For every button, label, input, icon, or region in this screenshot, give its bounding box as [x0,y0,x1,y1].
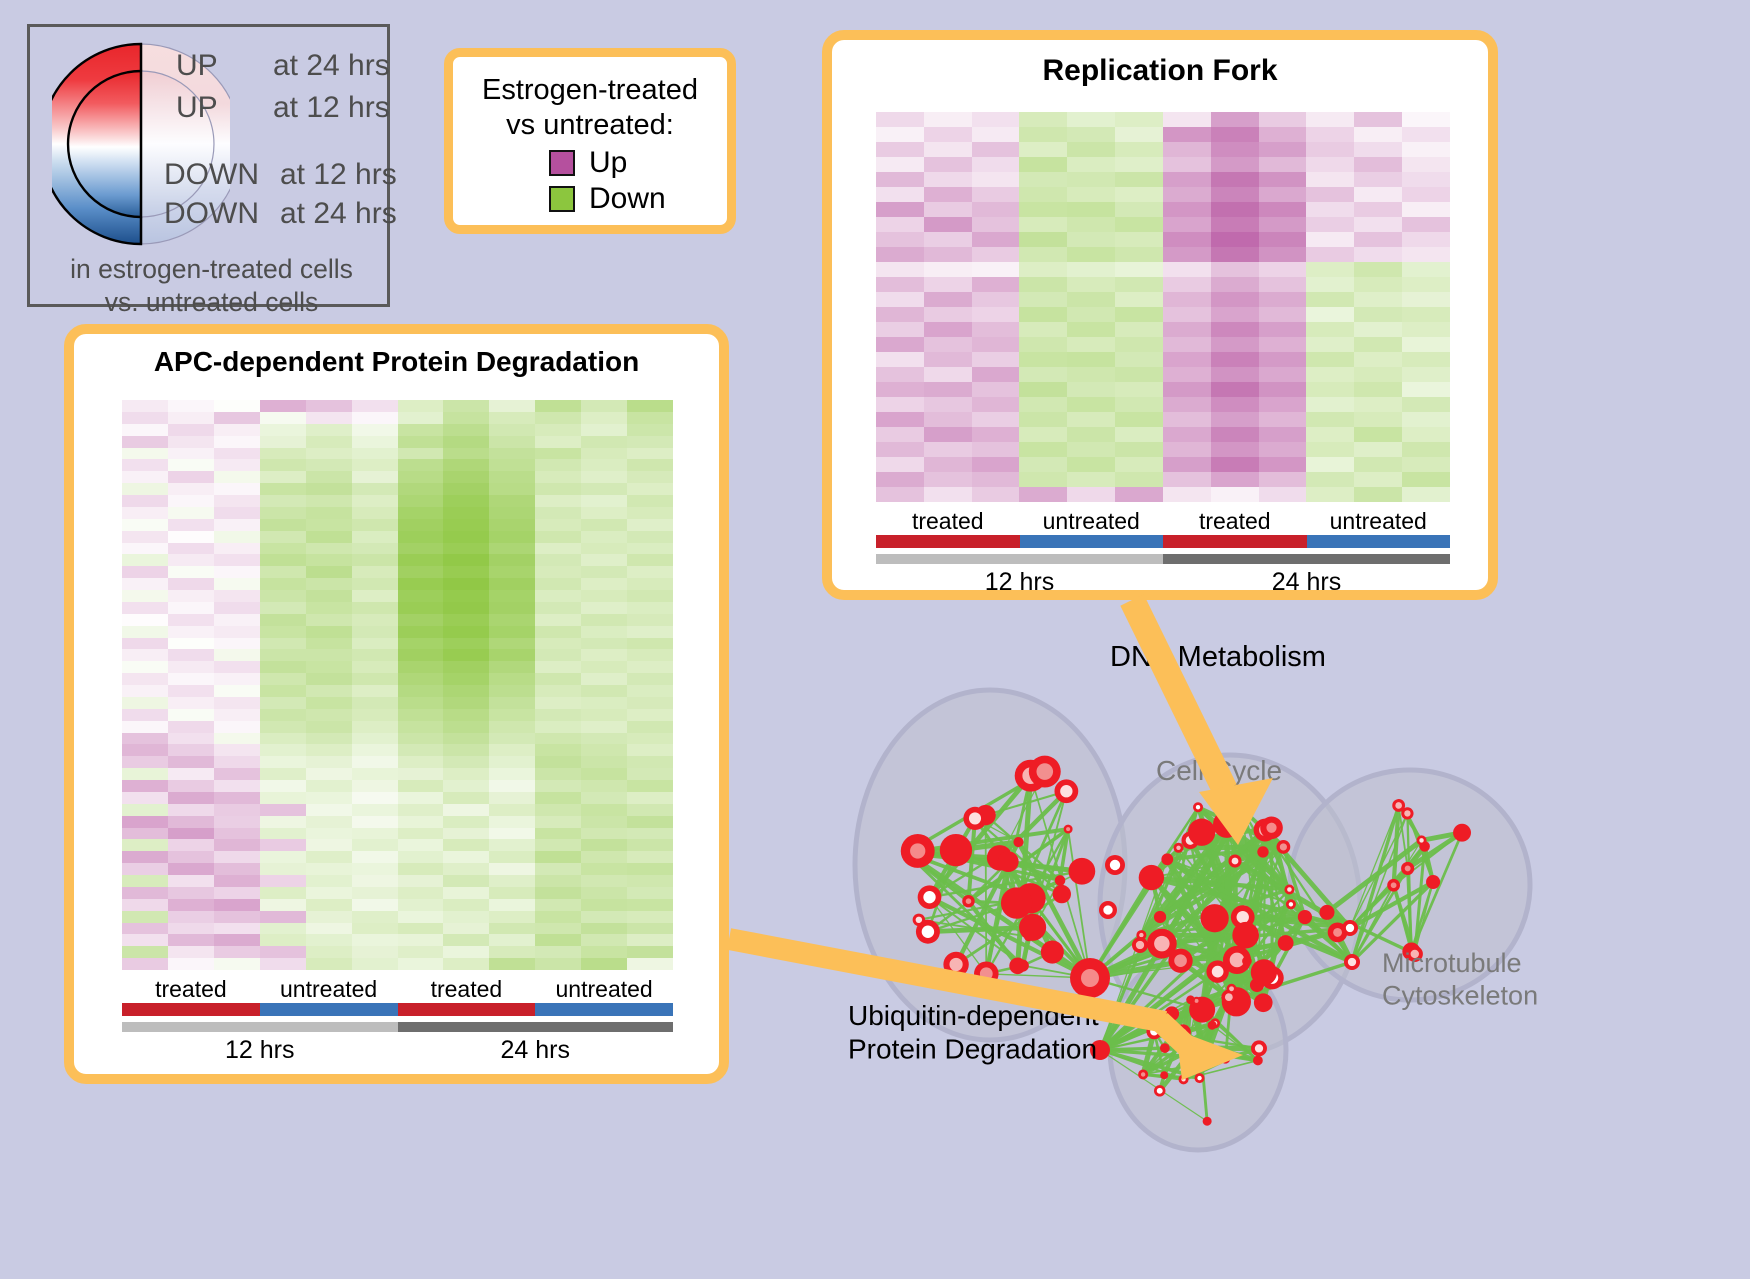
heatmap-cell [1163,457,1211,472]
heatmap-cell [306,875,352,887]
heatmap-cell [352,566,398,578]
heatmap-cell [443,685,489,697]
network-node[interactable] [1257,846,1268,857]
heatmap-cell [260,911,306,923]
heatmap-cell [260,697,306,709]
heatmap-cell [535,851,581,863]
heatmap-cell [306,946,352,958]
heatmap-cell [122,863,168,875]
heatmap-cell [1259,427,1307,442]
heatmap-cell [443,934,489,946]
heatmap-cell [1354,472,1402,487]
heatmap-cell [260,756,306,768]
heatmap-cell [168,816,214,828]
heatmap-cell [581,649,627,661]
heatmap-cell [972,427,1020,442]
heatmap-cell [352,744,398,756]
heatmap-cell [1019,322,1067,337]
heatmap-cell [581,685,627,697]
heatmap-cell [1211,262,1259,277]
network-node[interactable] [1160,1043,1170,1053]
heatmap-cell [1211,202,1259,217]
heatmap-cell [876,472,924,487]
heatmap-cell [306,436,352,448]
heatmap-cell [306,899,352,911]
heatmap-cell [260,531,306,543]
network-node[interactable] [1053,885,1071,903]
heatmap-cell [306,578,352,590]
apc-timebar-12 [122,1022,398,1032]
heatmap-cell [535,816,581,828]
heatmap-cell [535,673,581,685]
heatmap-cell [260,875,306,887]
network-node[interactable] [1278,935,1294,951]
heatmap-cell [535,946,581,958]
heatmap-cell [443,958,489,970]
heatmap-cell [398,649,444,661]
heatmap-cell [1354,112,1402,127]
heatmap-cell [443,483,489,495]
heatmap-cell [1019,487,1067,502]
heatmap-cell [122,816,168,828]
heatmap-cell [1211,337,1259,352]
heatmap-cell [876,127,924,142]
heatmap-cell [924,172,972,187]
network-node[interactable] [1200,1048,1208,1056]
heatmap-cell [972,217,1020,232]
heatmap-cell [581,519,627,531]
heatmap-cell [168,543,214,555]
rep-sample-color-bar [876,535,1450,548]
network-node[interactable] [1139,865,1164,890]
heatmap-cell [168,780,214,792]
heatmap-cell [1211,412,1259,427]
heatmap-cell [352,816,398,828]
legend-time-up-24: at 24 hrs [273,49,390,83]
heatmap-cell [627,543,673,555]
heatmap-cell [260,424,306,436]
heatmap-cell [260,839,306,851]
heatmap-cell [535,934,581,946]
heatmap-cell [306,507,352,519]
heatmap-cell [214,673,260,685]
heatmap-cell [1163,187,1211,202]
heatmap-cell [1019,157,1067,172]
heatmap-cell [924,472,972,487]
updown-legend-title-line2: vs untreated: [453,108,727,143]
heatmap-cell [260,649,306,661]
heatmap-cell [443,744,489,756]
heatmap-cell [924,352,972,367]
heatmap-cell [1019,382,1067,397]
heatmap-cell [352,448,398,460]
heatmap-cell [1259,217,1307,232]
heatmap-cell [443,507,489,519]
heatmap-cell [443,638,489,650]
heatmap-cell [214,934,260,946]
heatmap-cell [214,412,260,424]
heatmap-cell [1019,202,1067,217]
heatmap-cell [168,424,214,436]
network-node[interactable] [1165,1006,1179,1020]
heatmap-cell [1306,172,1354,187]
heatmap-cell [443,566,489,578]
heatmap-cell [443,792,489,804]
heatmap-cell [214,697,260,709]
heatmap-cell [1354,442,1402,457]
heatmap-cell [972,262,1020,277]
heatmap-cell [1115,457,1163,472]
heatmap-cell [1402,172,1450,187]
legend-key-down-24: DOWN [164,197,259,231]
heatmap-cell [1019,217,1067,232]
heatmap-cell [168,721,214,733]
network-node[interactable] [1254,993,1273,1012]
network-node[interactable] [1253,1056,1263,1066]
heatmap-cell [352,934,398,946]
heatmap-cell [1163,322,1211,337]
heatmap-cell [260,816,306,828]
heatmap-cell [489,638,535,650]
heatmap-cell [876,277,924,292]
heatmap-cell [260,958,306,970]
heatmap-cell [122,661,168,673]
network-node[interactable] [1001,887,1032,918]
network-node[interactable] [1232,922,1259,949]
heatmap-cell [627,934,673,946]
heatmap-cell [168,863,214,875]
heatmap-cell [1402,427,1450,442]
heatmap-cell [581,958,627,970]
heatmap-cell [489,899,535,911]
heatmap-cell [627,554,673,566]
heatmap-cell [1163,142,1211,157]
heatmap-cell [924,217,972,232]
heatmap-cell [972,457,1020,472]
heatmap-cell [489,495,535,507]
heatmap-cell [260,792,306,804]
network-node-core [922,926,934,938]
heatmap-cell [924,202,972,217]
heatmap-cell [1019,112,1067,127]
heatmap-cell [1211,427,1259,442]
network-node[interactable] [1242,956,1252,966]
heatmap-cell [1211,472,1259,487]
heatmap-cell [581,436,627,448]
network-node[interactable] [1161,853,1173,865]
heatmap-cell [443,839,489,851]
heatmap-cell [489,780,535,792]
heatmap-cell [168,471,214,483]
heatmap-cell [1402,112,1450,127]
heatmap-cell [398,673,444,685]
apc-bar-untreated-12 [260,1003,398,1016]
heatmap-cell [352,946,398,958]
heatmap-cell [1259,322,1307,337]
heatmap-cell [1259,277,1307,292]
heatmap-cell [398,756,444,768]
heatmap-cell [1354,292,1402,307]
heatmap-cell [489,887,535,899]
heatmap-cell [1115,397,1163,412]
network-node-core [1348,958,1356,966]
heatmap-cell [1163,472,1211,487]
network-node-core [1405,865,1411,871]
heatmap-cell [581,566,627,578]
heatmap-cell [352,911,398,923]
heatmap-cell [306,459,352,471]
heatmap-cell [352,638,398,650]
heatmap-cell [122,590,168,602]
heatmap-cell [168,685,214,697]
network-label-line: Microtubule [1382,948,1522,978]
heatmap-cell [352,685,398,697]
heatmap-cell [306,649,352,661]
heatmap-cell [1259,172,1307,187]
network-node[interactable] [1160,1071,1168,1079]
network-node[interactable] [1208,1021,1217,1030]
heatmap-cell [122,602,168,614]
network-node-core [1150,1027,1158,1035]
heatmap-cell [535,543,581,555]
heatmap-cell [876,157,924,172]
heatmap-cell [972,172,1020,187]
heatmap-cell [214,792,260,804]
heatmap-cell [260,863,306,875]
heatmap-cell [443,721,489,733]
heatmap-cell [306,519,352,531]
heatmap-cell [352,495,398,507]
heatmap-cell [1402,472,1450,487]
panel-rep-title: Replication Fork [832,54,1488,88]
heatmap-cell [1354,127,1402,142]
heatmap-cell [1306,307,1354,322]
heatmap-cell [1019,412,1067,427]
network-node[interactable] [1186,995,1195,1004]
network-node[interactable] [1221,1054,1230,1063]
heatmap-cell [398,638,444,650]
heatmap-cell [306,661,352,673]
heatmap-cell [924,412,972,427]
network-label-line: DNA Metabolism [1110,641,1326,673]
heatmap-cell [1259,112,1307,127]
network-node[interactable] [1019,914,1046,941]
network-node[interactable] [1319,905,1334,920]
heatmap-cell [489,934,535,946]
legend-caption: in estrogen-treated cells vs. untreated … [30,253,393,319]
network-node[interactable] [1298,910,1312,924]
heatmap-cell [352,614,398,626]
up-label: Up [589,146,627,180]
heatmap-cell [214,875,260,887]
heatmap-cell [398,436,444,448]
network-node-core [1197,1076,1201,1080]
heatmap-cell [168,875,214,887]
network-node[interactable] [998,851,1019,872]
heatmap-cell [352,531,398,543]
heatmap-cell [260,626,306,638]
heatmap-cell [1211,487,1259,502]
network-node-core [1141,1072,1145,1076]
heatmap-cell [1115,382,1163,397]
heatmap-cell [924,427,972,442]
heatmap-cell [168,946,214,958]
heatmap-cell [214,638,260,650]
heatmap-cell [122,756,168,768]
heatmap-cell [352,578,398,590]
heatmap-cell [1354,262,1402,277]
heatmap-cell [489,661,535,673]
heatmap-cell [398,863,444,875]
heatmap-cell [489,531,535,543]
heatmap-cell [972,142,1020,157]
apc-bar-treated-24 [398,1003,536,1016]
heatmap-cell [972,367,1020,382]
apc-sample-label-3: untreated [535,976,673,1003]
network-node[interactable] [1203,1117,1212,1126]
heatmap-cell [1163,172,1211,187]
heatmap-cell [876,232,924,247]
network-node-core [1157,1088,1163,1094]
heatmap-cell [1067,112,1115,127]
down-color-swatch [549,186,575,212]
network-node[interactable] [1251,959,1277,985]
heatmap-cell [398,459,444,471]
heatmap-cell [972,157,1020,172]
network-node[interactable] [1154,911,1166,923]
heatmap-cell [398,424,444,436]
heatmap-cell [306,543,352,555]
heatmap-cell [443,578,489,590]
heatmap-cell [1354,172,1402,187]
heatmap-cell [1354,277,1402,292]
network-node[interactable] [1453,824,1471,842]
heatmap-cell [1163,232,1211,247]
heatmap-cell [398,923,444,935]
heatmap-cell [122,934,168,946]
heatmap-cell [535,507,581,519]
heatmap-cell [535,471,581,483]
network-node[interactable] [940,834,972,866]
heatmap-cell [168,436,214,448]
network-node[interactable] [1055,875,1066,886]
heatmap-cell [627,792,673,804]
heatmap-cell [972,187,1020,202]
heatmap-cell [260,946,306,958]
heatmap-cell [122,554,168,566]
heatmap-cell [1067,217,1115,232]
heatmap-cell [581,697,627,709]
heatmap-cell [489,721,535,733]
heatmap-cell [535,495,581,507]
heatmap-cell [352,768,398,780]
heatmap-cell [168,768,214,780]
heatmap-cell [627,661,673,673]
network-node[interactable] [1013,837,1023,847]
heatmap-cell [398,602,444,614]
heatmap-cell [168,459,214,471]
heatmap-cell [627,459,673,471]
heatmap-cell [260,602,306,614]
heatmap-cell [627,590,673,602]
heatmap-cell [168,934,214,946]
heatmap-cell [924,442,972,457]
heatmap-cell [214,828,260,840]
heatmap-cell [1306,142,1354,157]
network-node[interactable] [1009,958,1026,975]
heatmap-cell [168,507,214,519]
heatmap-cell [1067,157,1115,172]
legend-caption-line1: in estrogen-treated cells [30,253,393,286]
heatmap-cell [1115,172,1163,187]
network-node-core [1346,924,1354,932]
heatmap-cell [581,768,627,780]
network-node-core [1212,966,1224,978]
heatmap-cell [1115,367,1163,382]
network-node[interactable] [1188,819,1215,846]
legend-time-down-24: at 24 hrs [280,197,397,231]
heatmap-cell [1402,187,1450,202]
heatmap-cell [1067,382,1115,397]
heatmap-cell [122,412,168,424]
rep-sample-labels: treated untreated treated untreated [876,508,1450,535]
heatmap-cell [1211,352,1259,367]
heatmap-cell [443,531,489,543]
rep-bar-untreated-12 [1020,535,1164,548]
heatmap-cell [214,519,260,531]
heatmap-cell [214,566,260,578]
heatmap-cell [352,602,398,614]
heatmap-cell [168,851,214,863]
network-node[interactable] [1213,810,1240,837]
heatmap-cell [214,958,260,970]
network-node[interactable] [1041,941,1064,964]
heatmap-cell [214,471,260,483]
heatmap-cell [443,661,489,673]
heatmap-cell [535,958,581,970]
apc-time-color-bar [122,1022,673,1032]
network-node-core [949,958,962,971]
heatmap-cell [1115,412,1163,427]
heatmap-cell [1402,367,1450,382]
heatmap-cell [876,457,924,472]
heatmap-cell [1067,397,1115,412]
heatmap-cell [1259,382,1307,397]
heatmap-cell [627,804,673,816]
heatmap-cell [972,337,1020,352]
heatmap-cell [122,839,168,851]
network-node[interactable] [1201,904,1229,932]
heatmap-cell [1354,457,1402,472]
heatmap-cell [1259,472,1307,487]
network-node-core [1391,882,1397,888]
heatmap-cell [398,531,444,543]
heatmap-cell [581,816,627,828]
heatmap-cell [627,495,673,507]
heatmap-cell [443,851,489,863]
heatmap-cell [214,923,260,935]
network-node[interactable] [1068,858,1095,885]
network-node[interactable] [1426,875,1440,889]
heatmap-cell [443,590,489,602]
heatmap-cell [352,471,398,483]
heatmap-cell [214,744,260,756]
heatmap-cell [260,887,306,899]
heatmap-cell [122,768,168,780]
heatmap-cell [168,590,214,602]
heatmap-cell [876,202,924,217]
heatmap-cell [443,780,489,792]
